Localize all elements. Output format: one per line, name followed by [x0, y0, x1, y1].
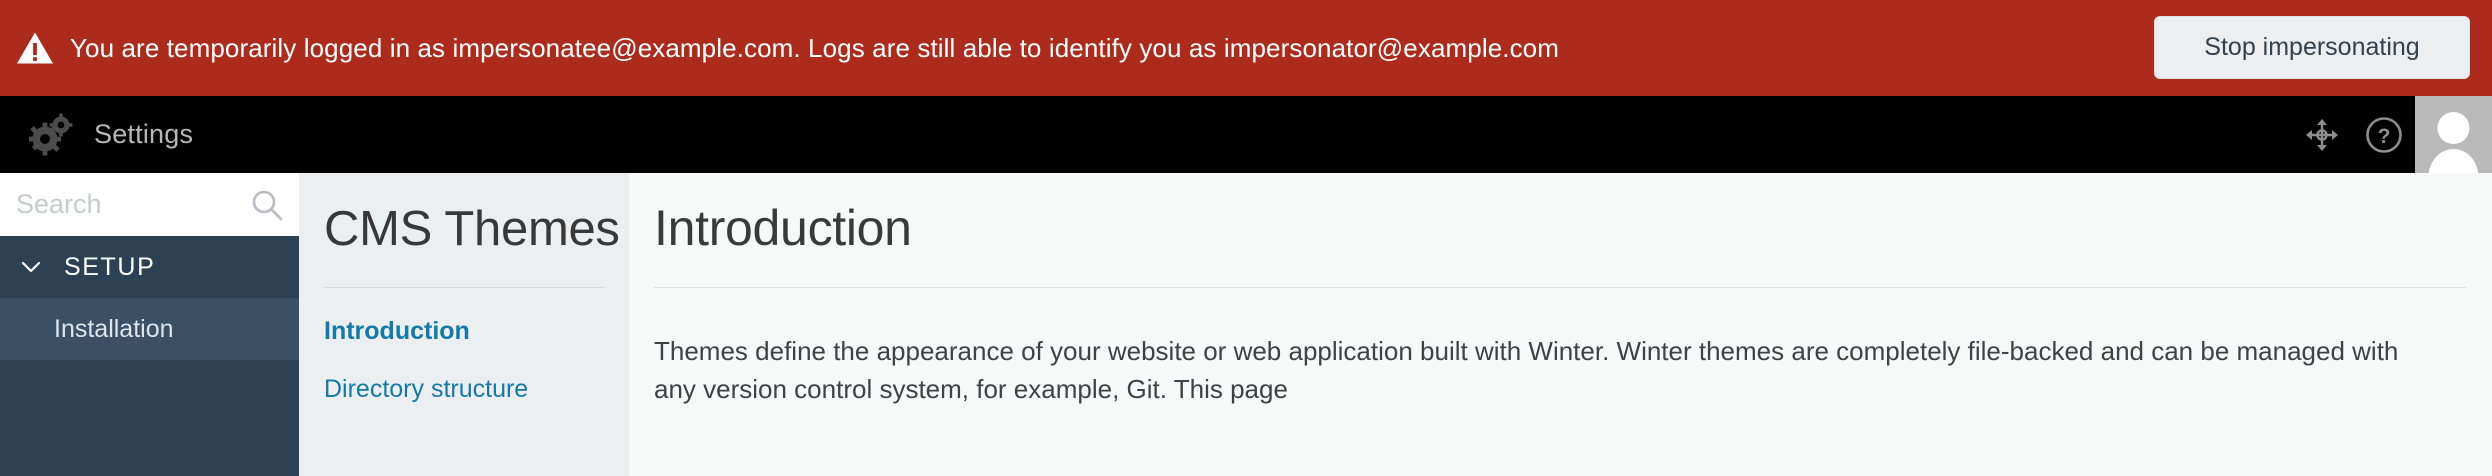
gear-icon [28, 111, 76, 159]
toc-divider [324, 287, 605, 288]
app-screen: You are temporarily logged in as imperso… [0, 0, 2492, 476]
topbar-actions: ? [2291, 96, 2492, 173]
help-icon: ? [2365, 116, 2403, 154]
sidebar-group-setup[interactable]: SETUP [0, 236, 299, 298]
left-sidebar: SETUP Installation [0, 173, 299, 476]
warning-triangle-icon [16, 31, 54, 65]
settings-brand[interactable]: Settings [28, 96, 193, 173]
search-input[interactable] [0, 175, 240, 235]
main-content: Introduction Themes define the appearanc… [629, 173, 2492, 476]
search-icon [250, 188, 284, 222]
toc-link-directory-structure[interactable]: Directory structure [324, 375, 629, 404]
toc-title: CMS Themes [324, 201, 629, 257]
search-icon-button[interactable] [249, 187, 285, 223]
toc-link-introduction[interactable]: Introduction [324, 317, 629, 346]
sidebar-search [0, 173, 299, 236]
toc-panel: CMS Themes Introduction Directory struct… [299, 173, 629, 476]
chevron-down-icon [20, 256, 42, 278]
move-icon-button[interactable] [2291, 96, 2353, 173]
help-icon-button[interactable]: ? [2353, 96, 2415, 173]
move-icon [2305, 118, 2339, 152]
content-divider [654, 287, 2466, 288]
impersonation-message: You are temporarily logged in as imperso… [70, 33, 1559, 63]
topbar-title: Settings [94, 119, 193, 150]
top-header-bar: Settings [0, 96, 2492, 173]
sidebar-group-label: SETUP [64, 253, 155, 282]
avatar-silhouette-icon [2415, 105, 2492, 173]
user-avatar[interactable] [2415, 96, 2492, 173]
sidebar-item-label: Installation [54, 315, 174, 344]
impersonation-banner: You are temporarily logged in as imperso… [0, 0, 2492, 96]
intro-paragraph: Themes define the appearance of your web… [654, 332, 2444, 408]
svg-text:?: ? [2378, 125, 2391, 148]
stop-impersonating-button[interactable]: Stop impersonating [2154, 16, 2470, 79]
sidebar-item-installation[interactable]: Installation [0, 298, 299, 360]
page-title: Introduction [654, 199, 2492, 257]
